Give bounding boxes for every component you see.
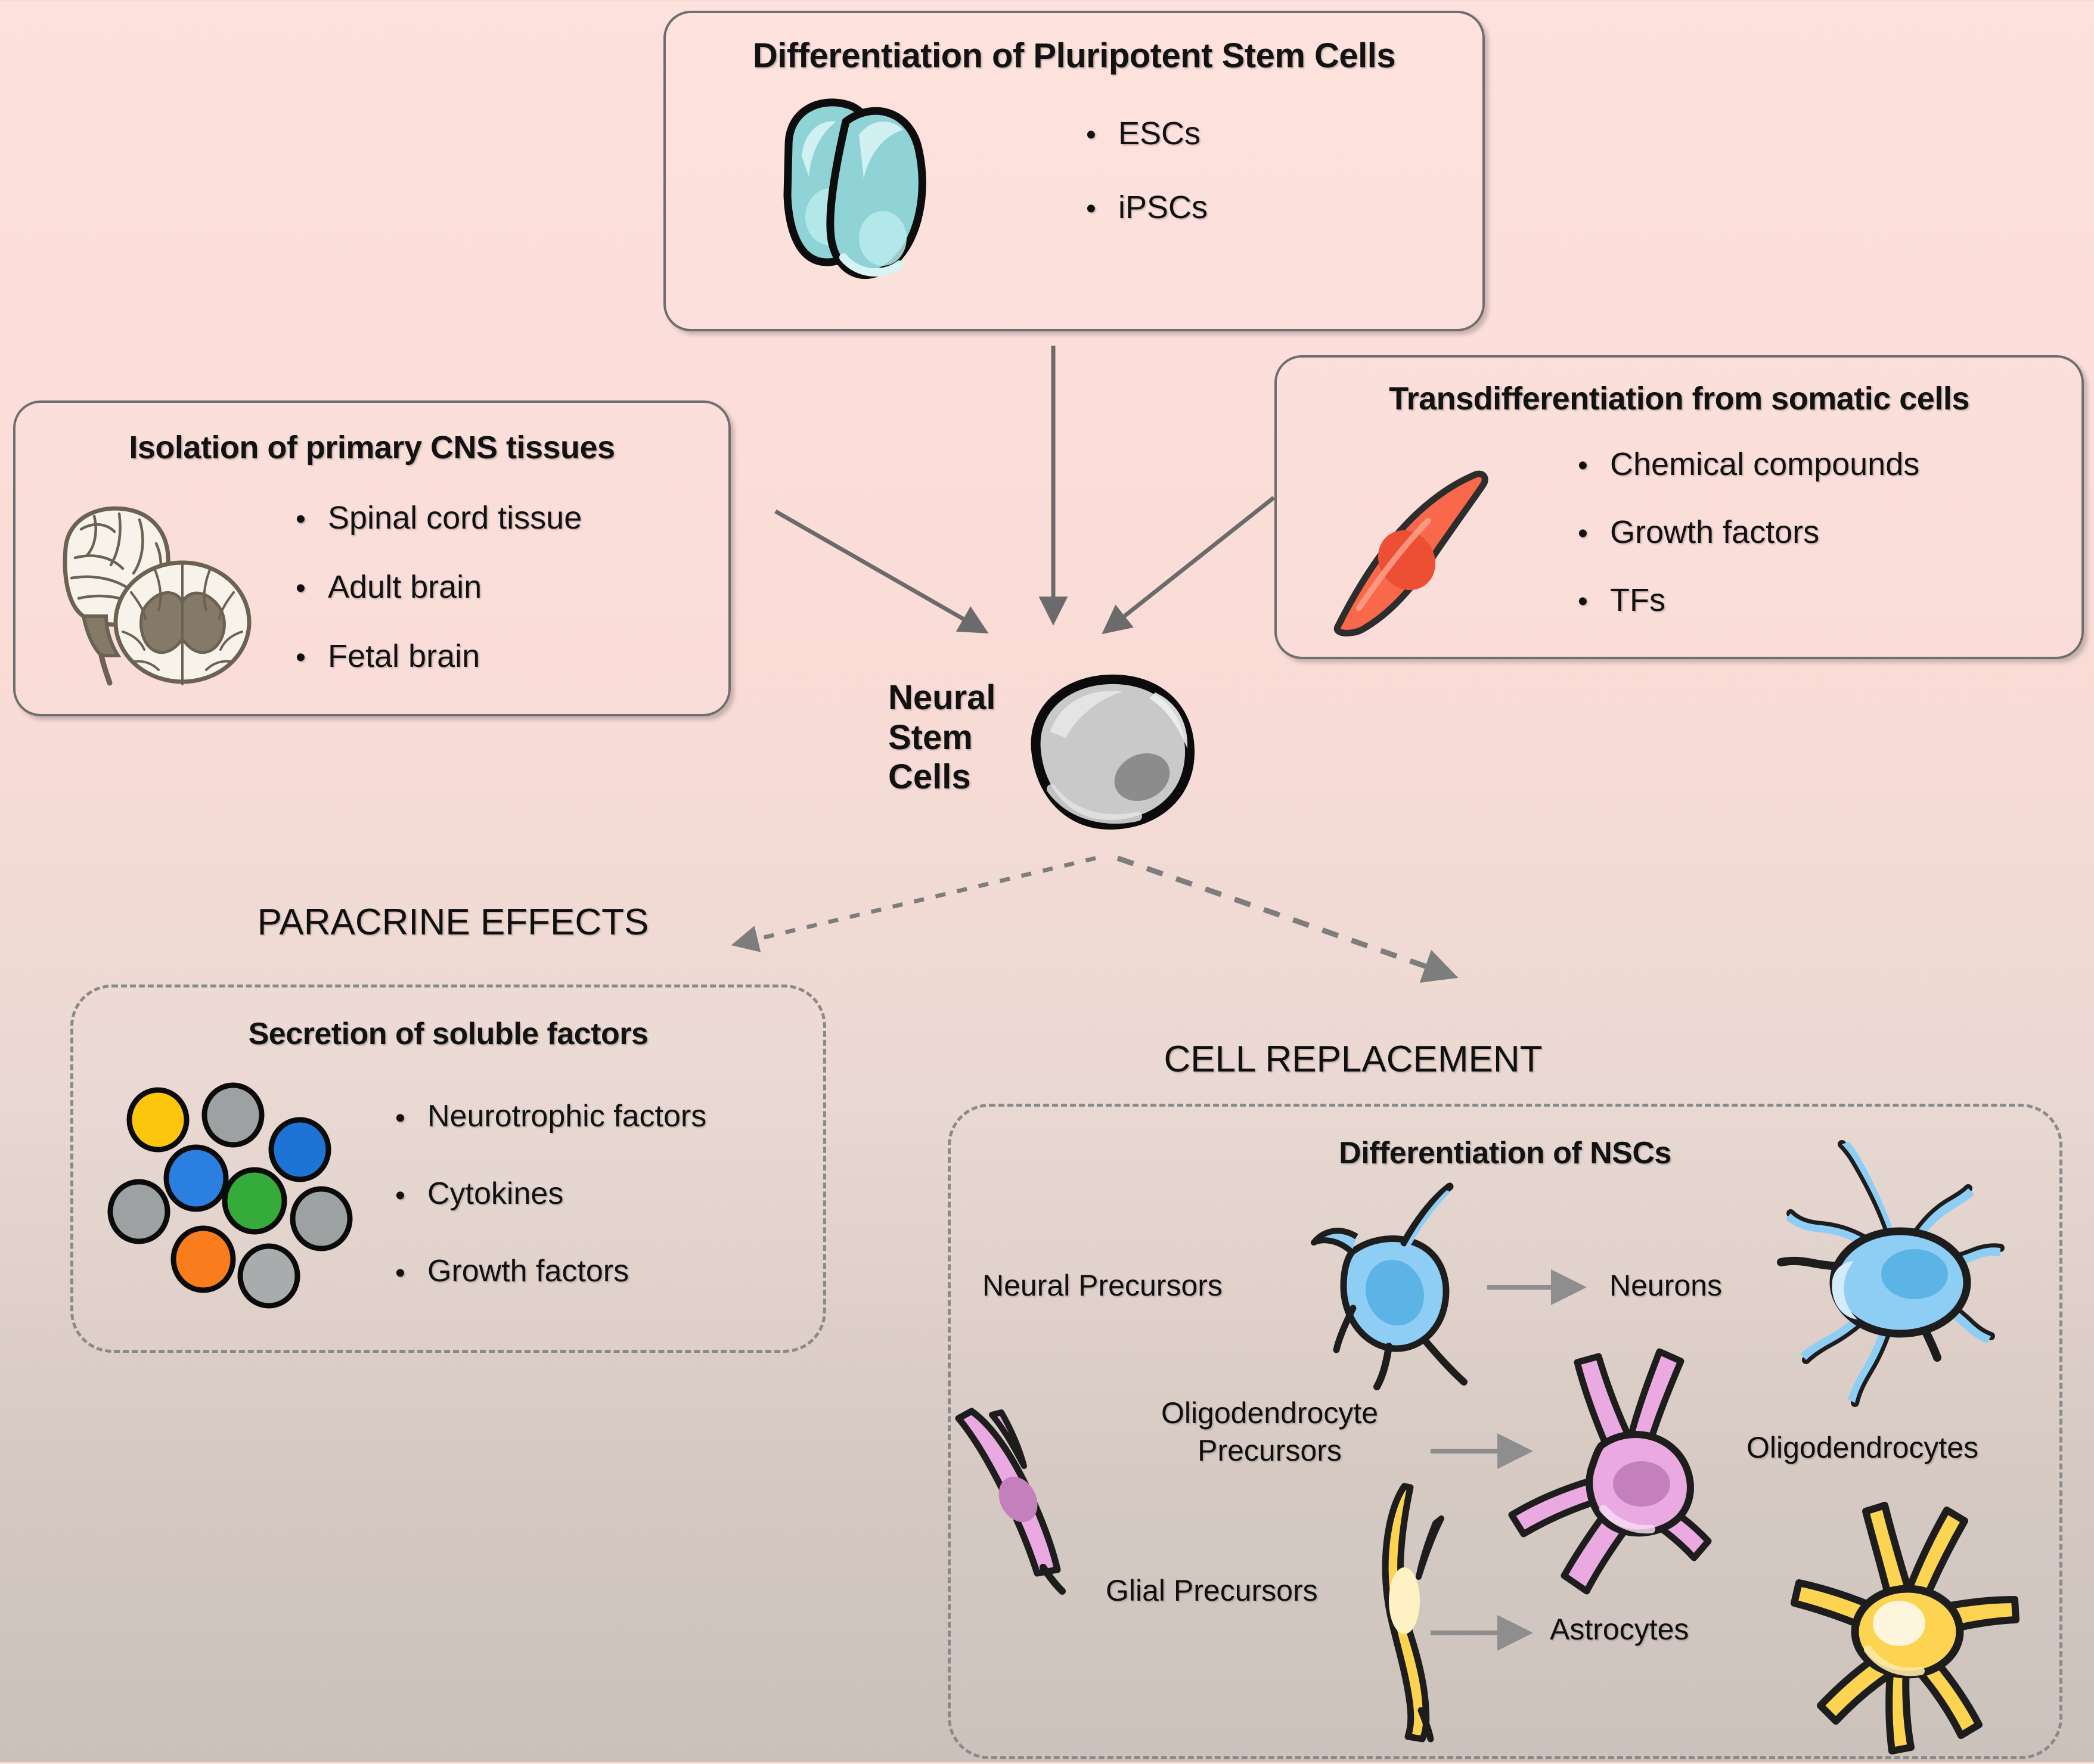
neuron-icon bbox=[1741, 1120, 2062, 1424]
factor-circle bbox=[293, 1189, 350, 1249]
list-item: • Chemical compounds bbox=[1578, 448, 1919, 480]
oligodendrocyte-icon bbox=[1502, 1341, 1764, 1621]
astrocyte-icon bbox=[1770, 1490, 2045, 1764]
transdiff-bullet-list: • Chemical compounds • Growth factors • … bbox=[1578, 448, 1919, 616]
factor-circle bbox=[173, 1228, 233, 1290]
bullet-label: Cytokines bbox=[427, 1178, 563, 1209]
list-item: • Neurotrophic factors bbox=[395, 1101, 706, 1132]
bullet-label: Fetal brain bbox=[328, 640, 480, 672]
oligodendrocytes-label: Oligodendrocytes bbox=[1746, 1430, 1978, 1465]
bullet-label: Spinal cord tissue bbox=[328, 502, 582, 534]
cns-bullet-list: • Spinal cord tissue • Adult brain • Fet… bbox=[296, 502, 582, 672]
glial-precursor-icon bbox=[1341, 1484, 1496, 1740]
astrocytes-label: Astrocytes bbox=[1550, 1612, 1689, 1647]
neurons-label: Neurons bbox=[1609, 1268, 1722, 1303]
bullet-dot-icon: • bbox=[1578, 520, 1610, 548]
bullet-label: TFs bbox=[1610, 584, 1665, 616]
bullet-label: ESCs bbox=[1118, 117, 1200, 150]
factor-circle bbox=[204, 1085, 262, 1145]
paracrine-effects-caption: PARACRINE EFFECTS bbox=[215, 901, 691, 943]
bullet-label: Neurotrophic factors bbox=[427, 1101, 706, 1132]
bullet-label: Adult brain bbox=[328, 571, 482, 603]
bullet-label: Growth factors bbox=[427, 1256, 629, 1287]
arrow-nsc-to-replacement bbox=[1118, 858, 1448, 974]
paracrine-effects-panel: Secretion of soluble factors • Neurotrop… bbox=[70, 985, 826, 1353]
list-item: • Fetal brain bbox=[296, 640, 582, 672]
oligodendrocyte-precursors-label: Oligodendrocyte Precursors bbox=[1138, 1395, 1401, 1469]
oligodendrocyte-precursor-icon bbox=[948, 1389, 1138, 1585]
transdifferentiation-source-box: Transdifferentiation from somatic cells … bbox=[1274, 355, 2084, 659]
factor-circle bbox=[271, 1120, 328, 1179]
factor-circle bbox=[166, 1147, 226, 1209]
pluripotent-box-title: Differentiation of Pluripotent Stem Cell… bbox=[666, 36, 1482, 76]
bullet-dot-icon: • bbox=[296, 505, 328, 534]
neural-stem-cells-label: Neural Stem Cells bbox=[888, 678, 996, 797]
bullet-dot-icon: • bbox=[395, 1182, 427, 1210]
arrow-cns-to-nsc bbox=[775, 511, 984, 631]
figure-canvas: Differentiation of Pluripotent Stem Cell… bbox=[0, 0, 2094, 1762]
list-item: • Adult brain bbox=[296, 571, 582, 603]
glial-precursors-label: Glial Precursors bbox=[1106, 1573, 1318, 1608]
neural-stem-cell-icon bbox=[1015, 666, 1205, 839]
bullet-dot-icon: • bbox=[1086, 195, 1118, 223]
bullet-dot-icon: • bbox=[395, 1104, 427, 1133]
cell-replacement-caption: CELL REPLACEMENT bbox=[1085, 1038, 1621, 1080]
paracrine-bullet-list: • Neurotrophic factors • Cytokines • Gro… bbox=[395, 1101, 706, 1287]
soluble-factors-icon bbox=[109, 1088, 359, 1302]
nsc-label-line: Neural bbox=[888, 678, 996, 718]
pluripotent-source-box: Differentiation of Pluripotent Stem Cell… bbox=[663, 11, 1485, 331]
list-item: • TFs bbox=[1578, 584, 1919, 616]
paracrine-panel-title: Secretion of soluble factors bbox=[73, 1016, 823, 1052]
arrow-nsc-to-paracrine bbox=[739, 858, 1096, 943]
bullet-dot-icon: • bbox=[296, 574, 328, 603]
bullet-dot-icon: • bbox=[1086, 121, 1118, 150]
stem-cell-cluster-icon bbox=[731, 79, 982, 305]
pluripotent-bullet-list: • ESCs • iPSCs bbox=[1086, 117, 1208, 223]
list-item: • iPSCs bbox=[1086, 191, 1208, 223]
arrow-transdiff-to-nsc bbox=[1106, 498, 1274, 631]
cns-source-box: Isolation of primary CNS tissues bbox=[13, 400, 731, 716]
factor-circle bbox=[110, 1182, 167, 1241]
factor-circle bbox=[240, 1246, 297, 1306]
factor-circle bbox=[129, 1090, 187, 1150]
bullet-dot-icon: • bbox=[1578, 452, 1610, 480]
bullet-dot-icon: • bbox=[395, 1259, 427, 1288]
list-item: • Cytokines bbox=[395, 1178, 706, 1209]
bullet-label: iPSCs bbox=[1118, 191, 1208, 223]
list-item: • Spinal cord tissue bbox=[296, 502, 582, 534]
nsc-label-line: Stem bbox=[888, 718, 996, 758]
cns-box-title: Isolation of primary CNS tissues bbox=[15, 429, 728, 466]
neural-precursor-icon bbox=[1282, 1183, 1508, 1397]
neural-precursors-label: Neural Precursors bbox=[982, 1268, 1223, 1303]
nsc-label-line: Cells bbox=[888, 757, 996, 797]
bullet-dot-icon: • bbox=[296, 644, 328, 672]
fibroblast-icon bbox=[1323, 459, 1538, 638]
list-item: • ESCs bbox=[1086, 117, 1208, 150]
factor-circle bbox=[225, 1170, 284, 1232]
list-item: • Growth factors bbox=[1578, 516, 1919, 548]
bullet-label: Growth factors bbox=[1610, 516, 1819, 548]
list-item: • Growth factors bbox=[395, 1256, 706, 1287]
brain-icon bbox=[44, 493, 271, 690]
bullet-dot-icon: • bbox=[1578, 588, 1610, 616]
transdiff-box-title: Transdifferentiation from somatic cells bbox=[1277, 380, 2081, 417]
bullet-label: Chemical compounds bbox=[1610, 448, 1919, 480]
